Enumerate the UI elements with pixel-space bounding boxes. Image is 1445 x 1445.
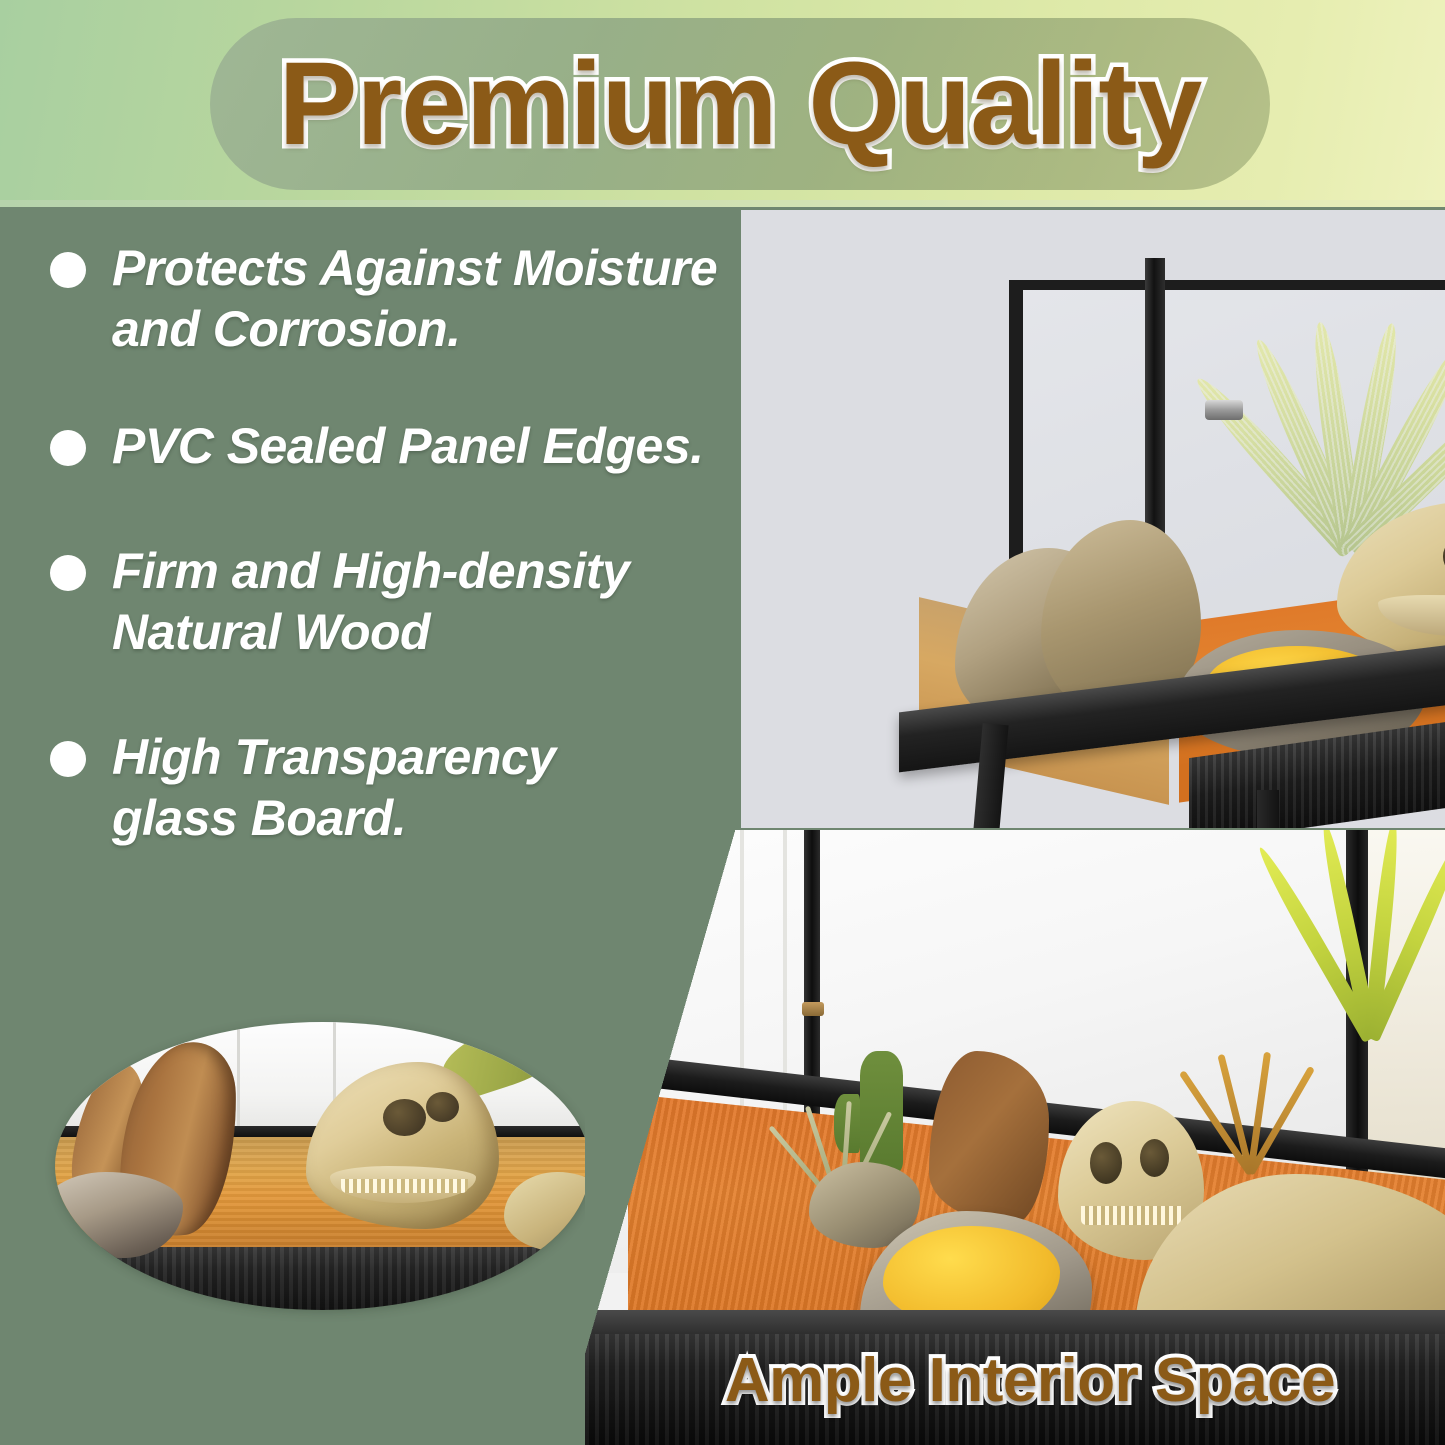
- feature-list: Protects Against Moisture and Corrosion.…: [50, 238, 780, 905]
- bottom-caption: Ample Interior Space: [620, 1338, 1440, 1422]
- hinge-bolt-icon: [1205, 400, 1243, 420]
- skull-teeth: [1081, 1206, 1180, 1225]
- skull-eye-socket: [1140, 1139, 1169, 1177]
- list-item: Firm and High-density Natural Wood: [50, 541, 780, 663]
- bullet-dot-icon: [50, 430, 86, 466]
- list-item: Protects Against Moisture and Corrosion.: [50, 238, 780, 360]
- bullet-dot-icon: [50, 741, 86, 777]
- bullet-dot-icon: [50, 555, 86, 591]
- decor-plant-right: [1187, 1051, 1307, 1174]
- page-title: Premium Quality: [210, 18, 1270, 190]
- skull-jaw: [1378, 595, 1445, 637]
- skull-eye-socket: [426, 1092, 459, 1122]
- driftwood-ornament: [929, 1051, 1049, 1223]
- infographic-canvas: Premium Quality Protects Against Moistur…: [0, 0, 1445, 1445]
- terrarium-closeup-photo: [55, 1022, 590, 1310]
- feature-label: Protects Against Moisture and Corrosion.: [112, 238, 780, 360]
- door-latch-icon: [802, 1002, 824, 1016]
- white-arc-divider: [741, 210, 1061, 828]
- list-item: PVC Sealed Panel Edges.: [50, 416, 780, 477]
- fern-plant-right: [1290, 830, 1436, 1039]
- feature-label: PVC Sealed Panel Edges.: [112, 416, 704, 477]
- skull-eye-socket: [1090, 1142, 1122, 1184]
- skull-teeth: [341, 1179, 468, 1192]
- terrarium-stand-photo: [741, 210, 1445, 828]
- bullet-dot-icon: [50, 252, 86, 288]
- feature-label: High Transparency glass Board.: [112, 727, 652, 849]
- wall-seam: [237, 1022, 240, 1126]
- feature-label: Firm and High-density Natural Wood: [112, 541, 772, 663]
- header-banner: Premium Quality: [0, 0, 1445, 207]
- stand-leg: [1257, 790, 1279, 828]
- skull-eye-socket: [383, 1099, 425, 1136]
